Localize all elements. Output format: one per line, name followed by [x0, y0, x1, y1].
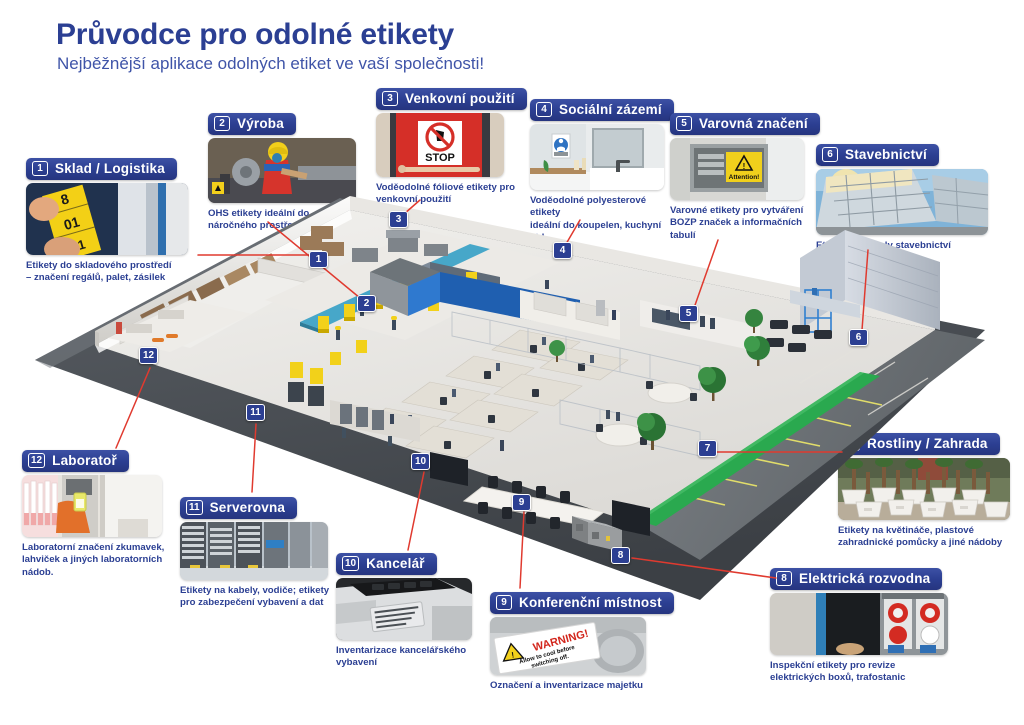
map-marker-6[interactable]: 6: [849, 329, 868, 346]
map-marker-11[interactable]: 11: [246, 404, 265, 421]
map-marker-3[interactable]: 3: [389, 211, 408, 228]
map-marker-1[interactable]: 1: [309, 251, 328, 268]
map-marker-12[interactable]: 12: [139, 347, 158, 364]
map-marker-2[interactable]: 2: [357, 295, 376, 312]
map-marker-10[interactable]: 10: [411, 453, 430, 470]
map-marker-5[interactable]: 5: [679, 305, 698, 322]
infographic-poster: Průvodce pro odolné etikety Nejběžnější …: [0, 0, 1024, 725]
map-marker-9[interactable]: 9: [512, 494, 531, 511]
map-marker-4[interactable]: 4: [553, 242, 572, 259]
map-marker-8[interactable]: 8: [611, 547, 630, 564]
map-marker-7[interactable]: 7: [698, 440, 717, 457]
